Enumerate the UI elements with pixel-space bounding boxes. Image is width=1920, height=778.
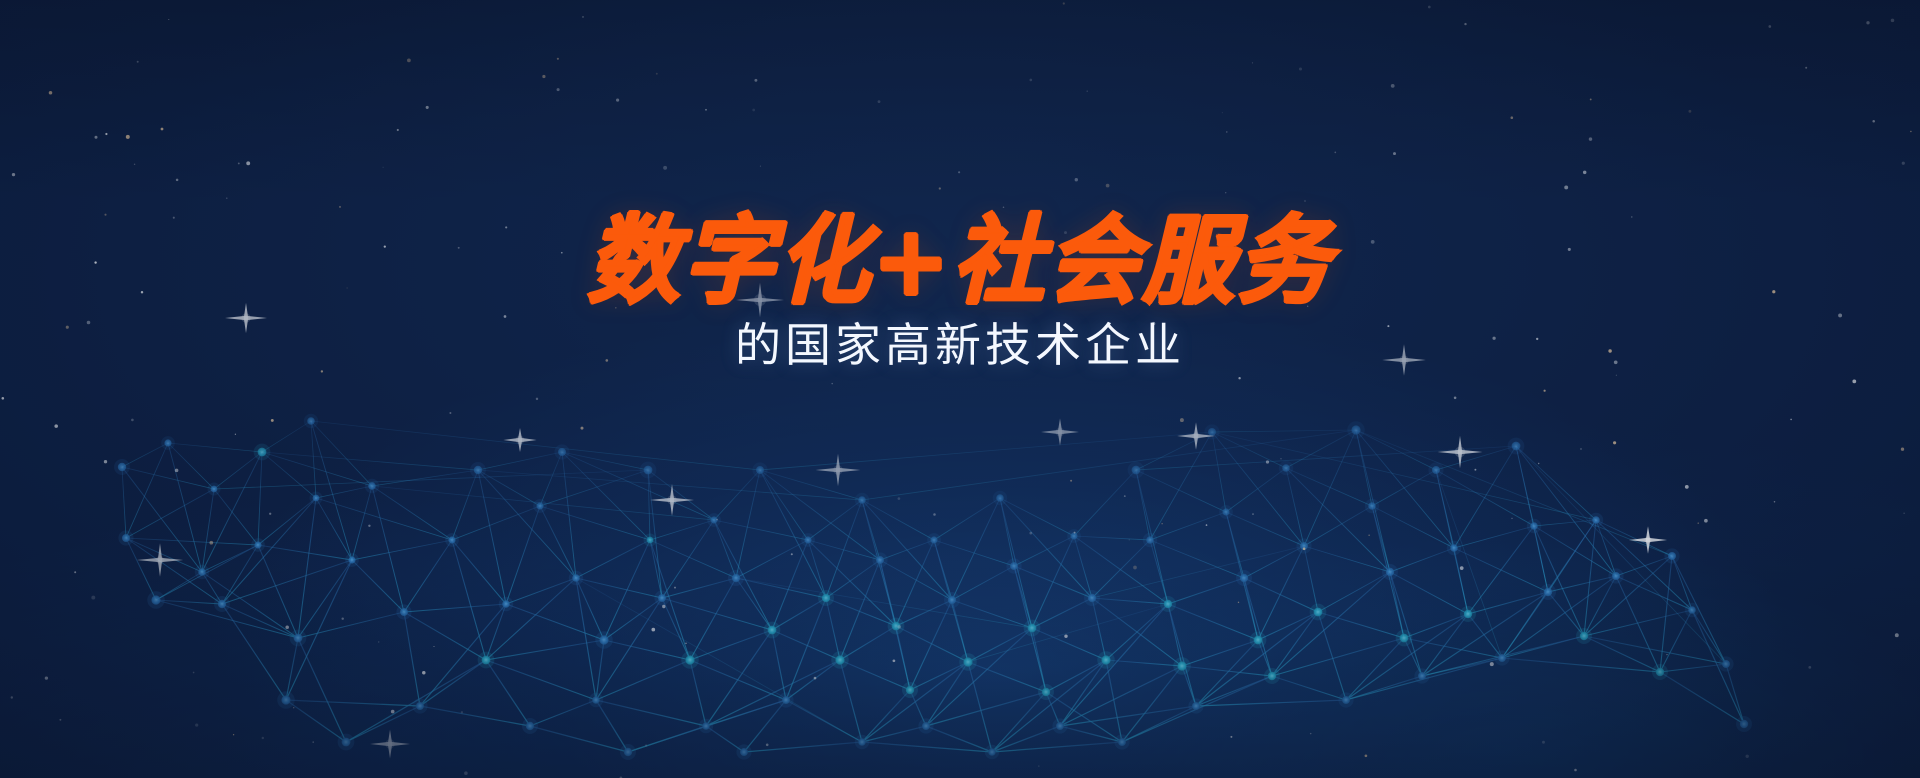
banner-headline: 数字化+社会服务: [0, 214, 1920, 310]
background-vignette: [0, 0, 1920, 778]
banner-text-block: 数字化+社会服务 的国家高新技术企业: [0, 214, 1920, 368]
hero-banner: 数字化+社会服务 的国家高新技术企业: [0, 0, 1920, 778]
banner-subtitle: 的国家高新技术企业: [0, 322, 1920, 368]
